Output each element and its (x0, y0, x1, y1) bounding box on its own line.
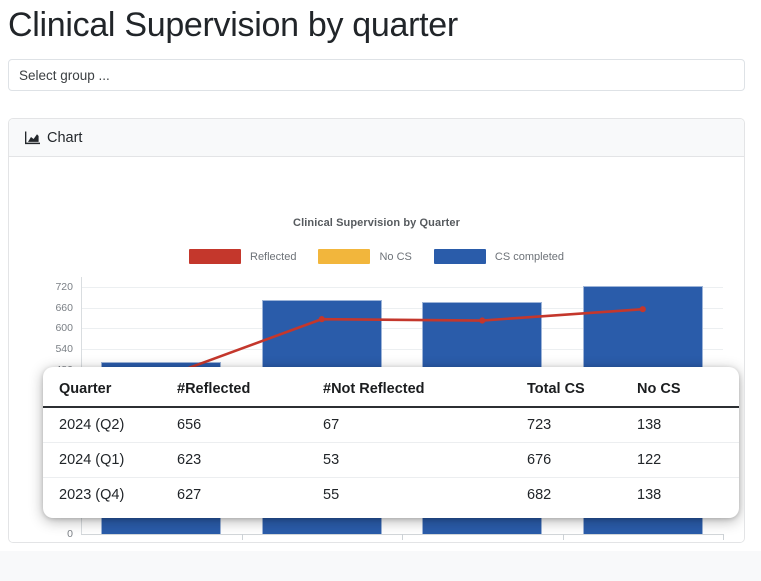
y-axis-tick-label: 600 (33, 322, 73, 334)
cell-quarter: 2024 (Q1) (43, 443, 177, 478)
cell-total-cs: 723 (527, 407, 637, 443)
cell-quarter: 2023 (Q4) (43, 478, 177, 513)
cell-quarter: 2024 (Q2) (43, 407, 177, 443)
data-table: Quarter #Reflected #Not Reflected Total … (43, 379, 739, 512)
tab-chart-label: Chart (47, 130, 82, 146)
app-root: Clinical Supervision by quarter Select g… (0, 0, 761, 581)
x-axis-tickmark (563, 534, 564, 540)
card-header: Chart (9, 119, 744, 157)
page-bottom-strip (0, 551, 761, 581)
cell-not-reflected: 55 (323, 478, 527, 513)
cell-no-cs: 138 (637, 478, 739, 513)
table-row: 2023 (Q4)62755682138 (43, 478, 739, 513)
cell-total-cs: 676 (527, 443, 637, 478)
group-select[interactable]: Select group ... (8, 59, 745, 91)
tab-chart[interactable]: Chart (25, 130, 82, 146)
col-header-reflected: #Reflected (177, 379, 323, 407)
y-axis-tick-label: 540 (33, 343, 73, 355)
chart-card: Chart Clinical Supervision by Quarter Re… (8, 118, 745, 543)
x-axis-tickmark (723, 534, 724, 540)
group-select-placeholder: Select group ... (19, 68, 110, 83)
cell-not-reflected: 67 (323, 407, 527, 443)
cell-not-reflected: 53 (323, 443, 527, 478)
table-row: 2024 (Q1)62353676122 (43, 443, 739, 478)
x-axis-tickmark (242, 534, 243, 540)
table-row: 2024 (Q2)65667723138 (43, 407, 739, 443)
card-body: Clinical Supervision by Quarter Reflecte… (9, 157, 744, 543)
data-table-overlay: Quarter #Reflected #Not Reflected Total … (43, 367, 739, 518)
cell-no-cs: 138 (637, 407, 739, 443)
col-header-no-cs: No CS (637, 379, 739, 407)
cell-no-cs: 122 (637, 443, 739, 478)
cell-reflected: 623 (177, 443, 323, 478)
col-header-quarter: Quarter (43, 379, 177, 407)
y-axis-tick-label: 660 (33, 302, 73, 314)
y-axis-tick-label: 720 (33, 281, 73, 293)
x-axis-tickmark (402, 534, 403, 540)
col-header-total-cs: Total CS (527, 379, 637, 407)
y-axis-tick-label: 0 (33, 528, 73, 540)
page-title: Clinical Supervision by quarter (8, 4, 458, 46)
area-chart-icon (25, 131, 40, 145)
cell-reflected: 656 (177, 407, 323, 443)
table-header-row: Quarter #Reflected #Not Reflected Total … (43, 379, 739, 407)
cell-reflected: 627 (177, 478, 323, 513)
cell-total-cs: 682 (527, 478, 637, 513)
col-header-not-reflected: #Not Reflected (323, 379, 527, 407)
